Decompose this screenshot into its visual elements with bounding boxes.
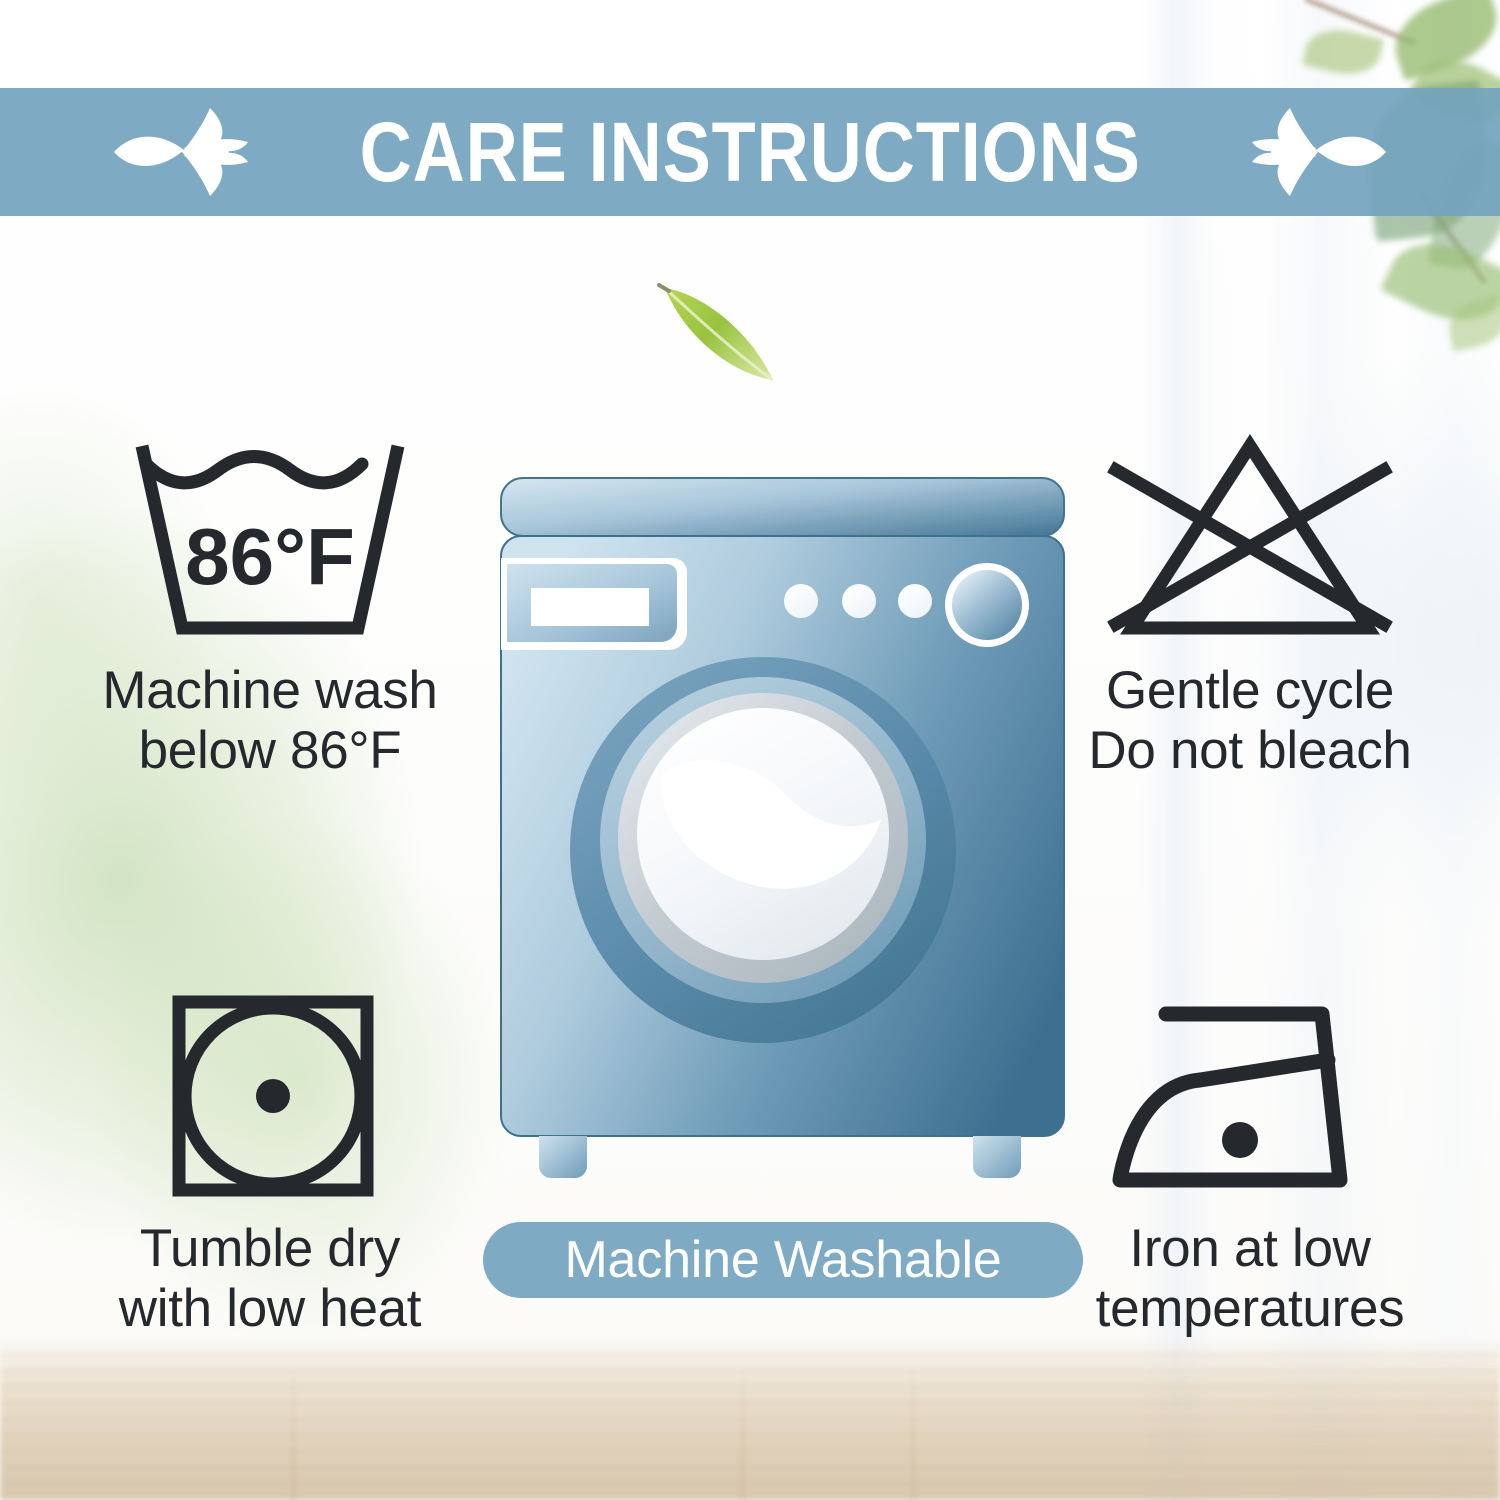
triangle-crossed-bleach-icon — [1100, 432, 1400, 647]
fleur-de-lis-ornament-left-icon — [112, 98, 262, 206]
care-label-tumble-dry: Tumble dry with low heat — [119, 1219, 421, 1339]
washing-machine-illustration — [495, 472, 1070, 1192]
wooden-table-surface — [0, 1340, 1500, 1500]
care-symbol-iron-low: Iron at low temperatures — [1010, 990, 1490, 1339]
care-label-machine-wash: Machine wash below 86°F — [102, 661, 437, 781]
iron-one-dot-icon — [1100, 990, 1400, 1205]
care-symbol-tumble-dry: Tumble dry with low heat — [30, 990, 510, 1339]
wash-tub-icon: 86°F — [120, 432, 420, 647]
wash-temperature-value: 86°F — [185, 512, 355, 601]
washer-door[interactable] — [570, 657, 956, 1043]
badge-label: Machine Washable — [564, 1234, 1001, 1286]
fleur-de-lis-ornament-right-icon — [1238, 98, 1388, 206]
care-symbol-do-not-bleach: Gentle cycle Do not bleach — [1010, 432, 1490, 781]
washer-dial[interactable] — [945, 563, 1029, 647]
washer-lid — [501, 478, 1064, 536]
care-label-iron-low: Iron at low temperatures — [1096, 1219, 1405, 1339]
header-banner: CARE INSTRUCTIONS — [0, 88, 1500, 216]
detergent-drawer — [501, 558, 687, 650]
tumble-dry-square-circle-icon — [155, 990, 385, 1205]
machine-washable-badge: Machine Washable — [483, 1222, 1083, 1298]
page-title: CARE INSTRUCTIONS — [359, 110, 1140, 194]
care-label-do-not-bleach: Gentle cycle Do not bleach — [1088, 661, 1411, 781]
care-symbol-machine-wash: 86°F Machine wash below 86°F — [30, 432, 510, 781]
floating-leaf-icon — [655, 280, 785, 390]
washer-feet — [539, 1136, 1021, 1178]
washer-control-buttons[interactable] — [784, 584, 932, 618]
care-instructions-infographic: CARE INSTRUCTIONS 86°F Machine wash belo… — [0, 0, 1500, 1500]
